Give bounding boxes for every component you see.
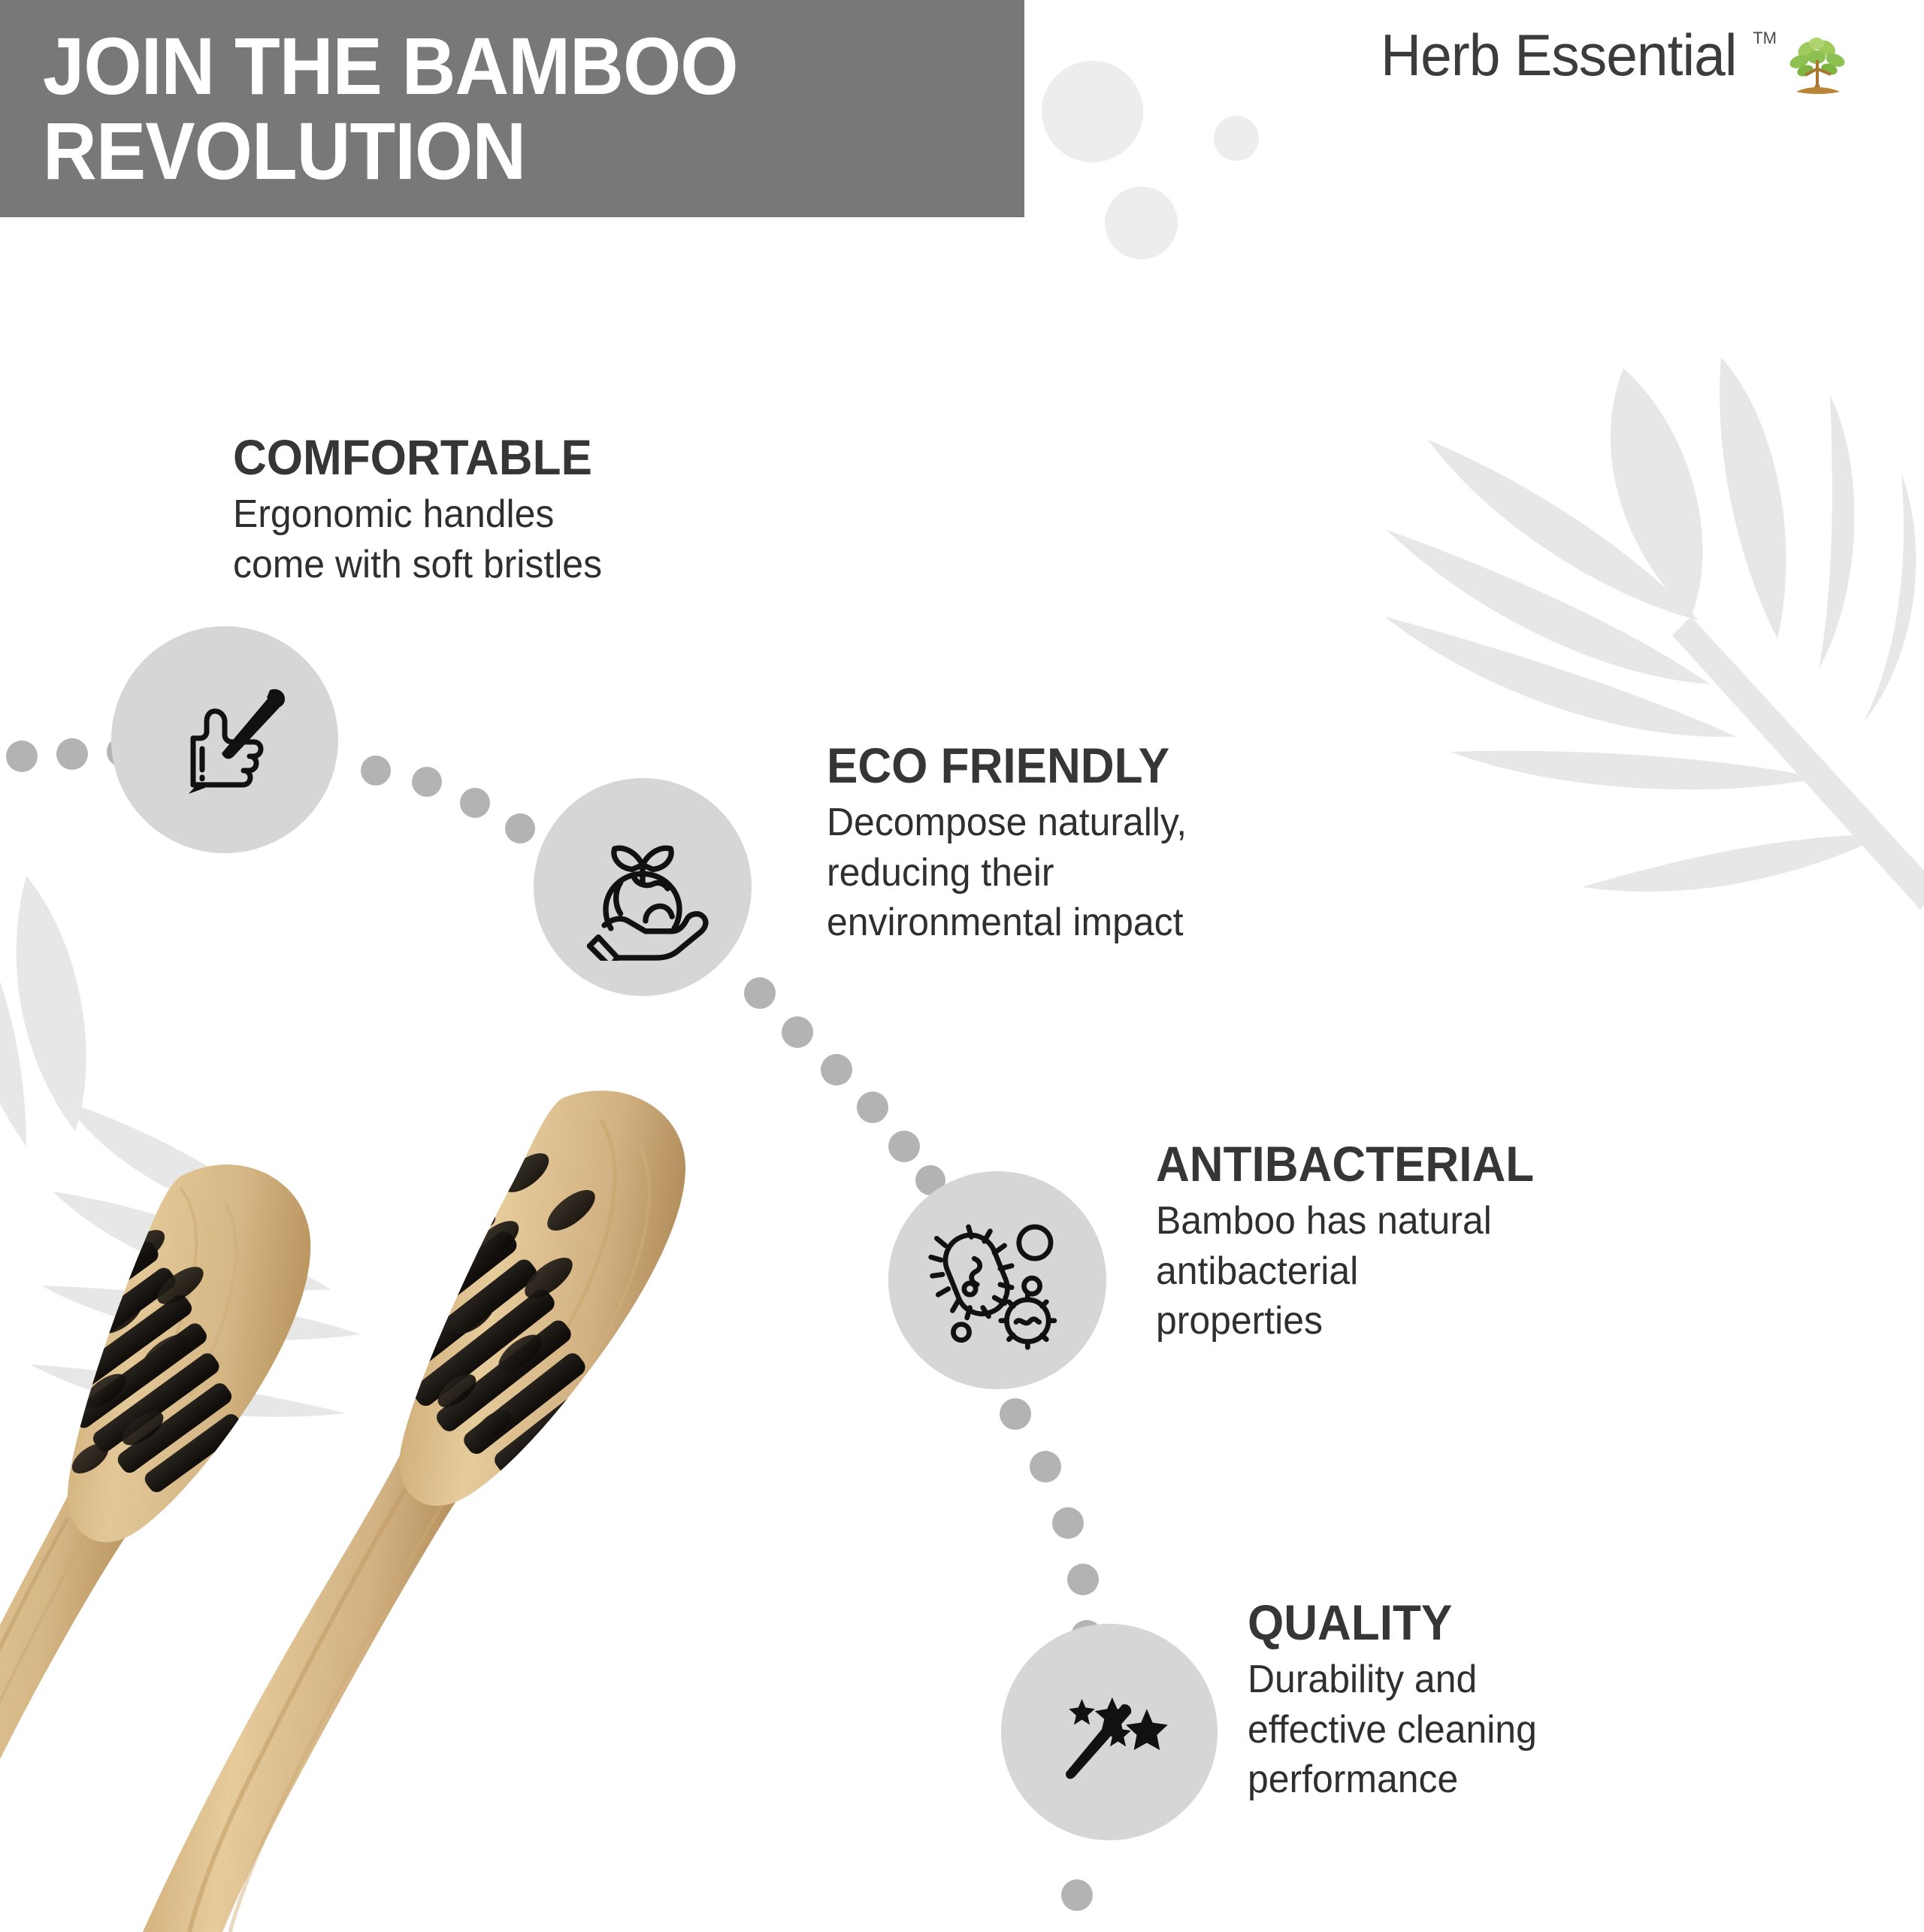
magic-wand-sparkle-icon — [1037, 1660, 1181, 1804]
brand-logo[interactable]: Herb Essential TM — [1381, 26, 1852, 99]
icon-bubble-comfortable[interactable] — [111, 626, 338, 853]
infographic-canvas: JOIN THE BAMBOO REVOLUTION Herb Essentia… — [0, 0, 1924, 1924]
header-banner: JOIN THE BAMBOO REVOLUTION — [0, 0, 1024, 217]
thumbs-up-toothbrush-icon — [150, 665, 300, 815]
feature-description-antibacterial: Bamboo has natural antibacterial propert… — [1156, 1196, 1542, 1346]
decorative-circle-small — [1214, 116, 1259, 161]
feature-title-comfortable: COMFORTABLE — [233, 432, 594, 482]
feature-title-eco-friendly: ECO FRIENDLY — [827, 740, 1179, 790]
feature-text-eco-friendly: ECO FRIENDLY Decompose naturally, reduci… — [827, 740, 1202, 948]
icon-bubble-quality[interactable] — [1001, 1624, 1218, 1840]
feature-description-quality: Durability and effective cleaning perfor… — [1248, 1655, 1537, 1805]
brand-name: Herb Essential — [1381, 26, 1737, 84]
feature-text-antibacterial: ANTIBACTERIAL Bamboo has natural antibac… — [1156, 1139, 1558, 1346]
trademark-symbol: TM — [1753, 29, 1777, 48]
feature-description-eco-friendly: Decompose naturally, reducing their envi… — [827, 798, 1187, 948]
tree-icon — [1783, 30, 1852, 99]
feature-text-quality: QUALITY Durability and effective cleanin… — [1248, 1597, 1549, 1805]
decorative-circle-medium — [1105, 186, 1178, 259]
bacteria-icon — [925, 1208, 1069, 1352]
icon-bubble-antibacterial[interactable] — [888, 1171, 1106, 1389]
decorative-circle-large — [1042, 61, 1143, 162]
icon-bubble-eco-friendly[interactable] — [534, 778, 752, 996]
feature-description-comfortable: Ergonomic handles come with soft bristle… — [233, 489, 602, 589]
bamboo-leaf-watermark-right — [1368, 316, 1924, 992]
hand-holding-globe-sprout-icon — [569, 813, 716, 961]
feature-text-comfortable: COMFORTABLE Ergonomic handles come with … — [233, 432, 618, 589]
product-image-bamboo-toothbrushes — [0, 1000, 842, 1932]
feature-title-antibacterial: ANTIBACTERIAL — [1156, 1139, 1534, 1189]
feature-title-quality: QUALITY — [1248, 1597, 1531, 1647]
page-title: JOIN THE BAMBOO REVOLUTION — [0, 24, 738, 193]
